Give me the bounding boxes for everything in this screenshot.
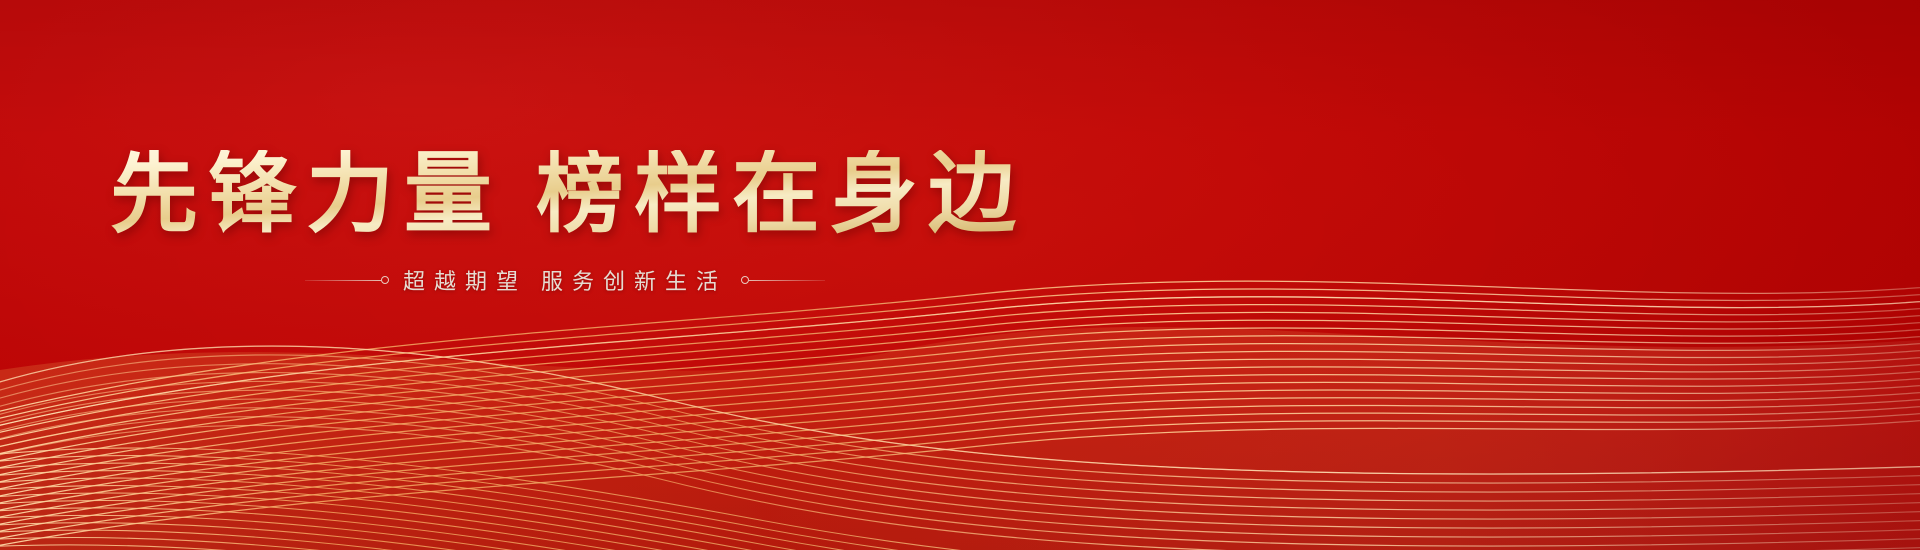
- headline-block: 先锋力量榜样在身边 超越期望服务创新生活: [0, 0, 1130, 296]
- decoration-circle-icon: [741, 276, 749, 284]
- headline-part-2: 榜样在身边: [536, 142, 1026, 245]
- decoration-line-icon: [749, 280, 825, 281]
- decoration-line-icon: [305, 280, 381, 281]
- subtitle: 超越期望服务创新生活: [403, 264, 727, 296]
- subtitle-row: 超越期望服务创新生活: [0, 264, 1130, 296]
- subtitle-part-1: 超越期望: [403, 270, 527, 295]
- subtitle-part-2: 服务创新生活: [541, 270, 727, 295]
- subtitle-left-decoration: [305, 276, 389, 284]
- subtitle-right-decoration: [741, 276, 825, 284]
- page-title: 先锋力量榜样在身边: [6, 150, 1130, 238]
- decoration-circle-icon: [381, 276, 389, 284]
- banner-root: 先锋力量榜样在身边 超越期望服务创新生活: [0, 0, 1920, 550]
- headline-part-1: 先锋力量: [110, 142, 502, 245]
